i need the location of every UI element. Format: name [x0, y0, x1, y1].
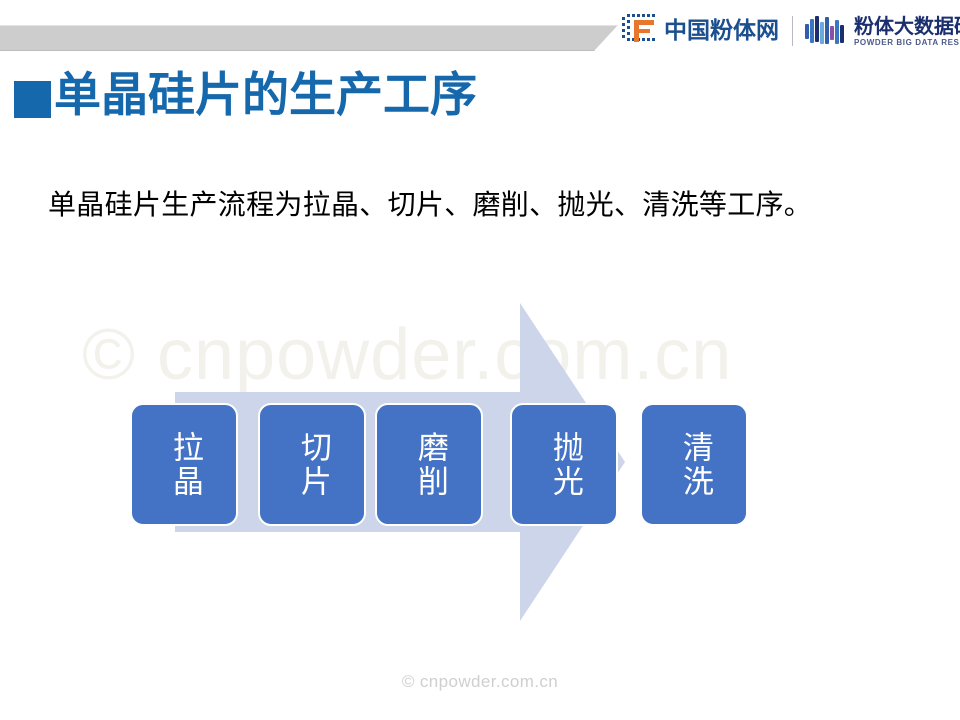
process-step-box[interactable]: 切片 [258, 403, 366, 526]
process-step-box[interactable]: 清洗 [640, 403, 748, 526]
process-step-label: 清洗 [675, 431, 713, 499]
slide-canvas: 中国粉体网 粉体大数据研究 POWDER BIG DATA RESEARCH 单… [0, 0, 960, 720]
process-step-box[interactable]: 拉晶 [130, 403, 238, 526]
process-step-label: 磨削 [410, 431, 448, 499]
footer-watermark: © cnpowder.com.cn [0, 672, 960, 692]
process-step-box[interactable]: 抛光 [510, 403, 618, 526]
process-step-box[interactable]: 磨削 [375, 403, 483, 526]
process-step-label: 切片 [293, 431, 331, 499]
process-step-label: 拉晶 [165, 431, 203, 499]
process-step-label: 抛光 [545, 431, 583, 499]
process-step-list: 拉晶 切片 磨削 抛光 清洗 [0, 0, 960, 720]
